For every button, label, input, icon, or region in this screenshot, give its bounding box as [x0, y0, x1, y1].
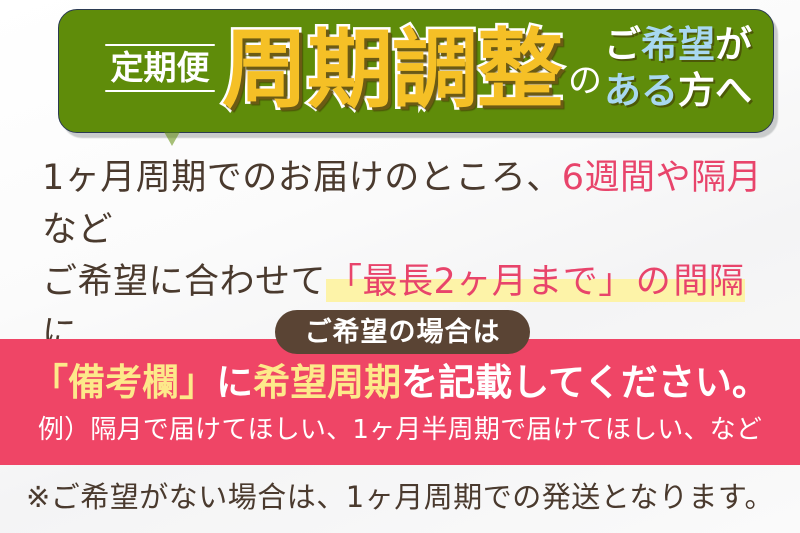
- instruction-h-a: 「備考欄」: [31, 361, 216, 404]
- request-case-badge-label: ご希望の場合は: [305, 318, 501, 347]
- body-l2-d-marker: 間隔: [672, 262, 745, 302]
- header-bubble-wrap: 定期便 周期調整 の ご希望が ある方へ: [0, 0, 800, 145]
- header-wish-line2: ある方へ: [604, 68, 784, 114]
- header-wish-text: ご希望が ある方へ: [604, 22, 784, 114]
- wish-l1-part-c: が: [715, 23, 752, 66]
- body-l2-b-marker: 「最長2ヶ月まで」: [326, 262, 635, 302]
- rule-top-divider: [105, 44, 215, 46]
- instruction-h-d: を記載してください。: [401, 361, 769, 404]
- body-l2-a: ご希望に合わせて: [42, 262, 326, 302]
- subscription-badge: 定期便: [105, 36, 215, 100]
- speech-bubble-tail-icon: [163, 130, 181, 146]
- wish-l1-part-a: ご: [604, 23, 641, 66]
- rule-bottom-divider: [105, 90, 215, 92]
- wish-l2-part-a: ある: [604, 69, 678, 112]
- header-wish-line1: ご希望が: [604, 22, 784, 68]
- body-l1-c: や: [656, 158, 692, 198]
- instruction-example: 例）隔月で届けてほしい、1ヶ月半周期で届けてほしい、など: [0, 414, 800, 446]
- header-title-particle: の: [568, 62, 602, 100]
- wish-l2-part-b: 方へ: [678, 69, 752, 112]
- body-l1-d-highlight: 隔月: [691, 158, 762, 198]
- wish-l1-part-b: 希望: [641, 23, 715, 66]
- instruction-band: 「備考欄」に希望周期を記載してください。 例）隔月で届けてほしい、1ヶ月半周期で…: [0, 339, 800, 465]
- body-line-1: 1ヶ月周期でのお届けのところ、6週間や隔月など: [42, 152, 772, 256]
- body-l1-e: など: [42, 210, 113, 250]
- request-case-badge: ご希望の場合は: [275, 310, 530, 354]
- instruction-headline: 「備考欄」に希望周期を記載してください。: [0, 361, 800, 405]
- header-title-gold: 周期調整: [222, 24, 562, 116]
- promo-banner: 定期便 周期調整 の ご希望が ある方へ 1ヶ月周期でのお届けのところ、6週間や…: [0, 0, 800, 533]
- footer-note: ※ご希望がない場合は、1ヶ月周期での発送となります。: [0, 478, 800, 516]
- subscription-badge-label: 定期便: [111, 49, 210, 87]
- instruction-h-c: 希望周期: [253, 361, 401, 404]
- body-l1-b-highlight: 6週間: [562, 158, 656, 198]
- body-l2-c-marker: の: [635, 262, 673, 302]
- body-l1-a: 1ヶ月周期でのお届けのところ、: [42, 158, 562, 198]
- instruction-h-b: に: [216, 361, 253, 404]
